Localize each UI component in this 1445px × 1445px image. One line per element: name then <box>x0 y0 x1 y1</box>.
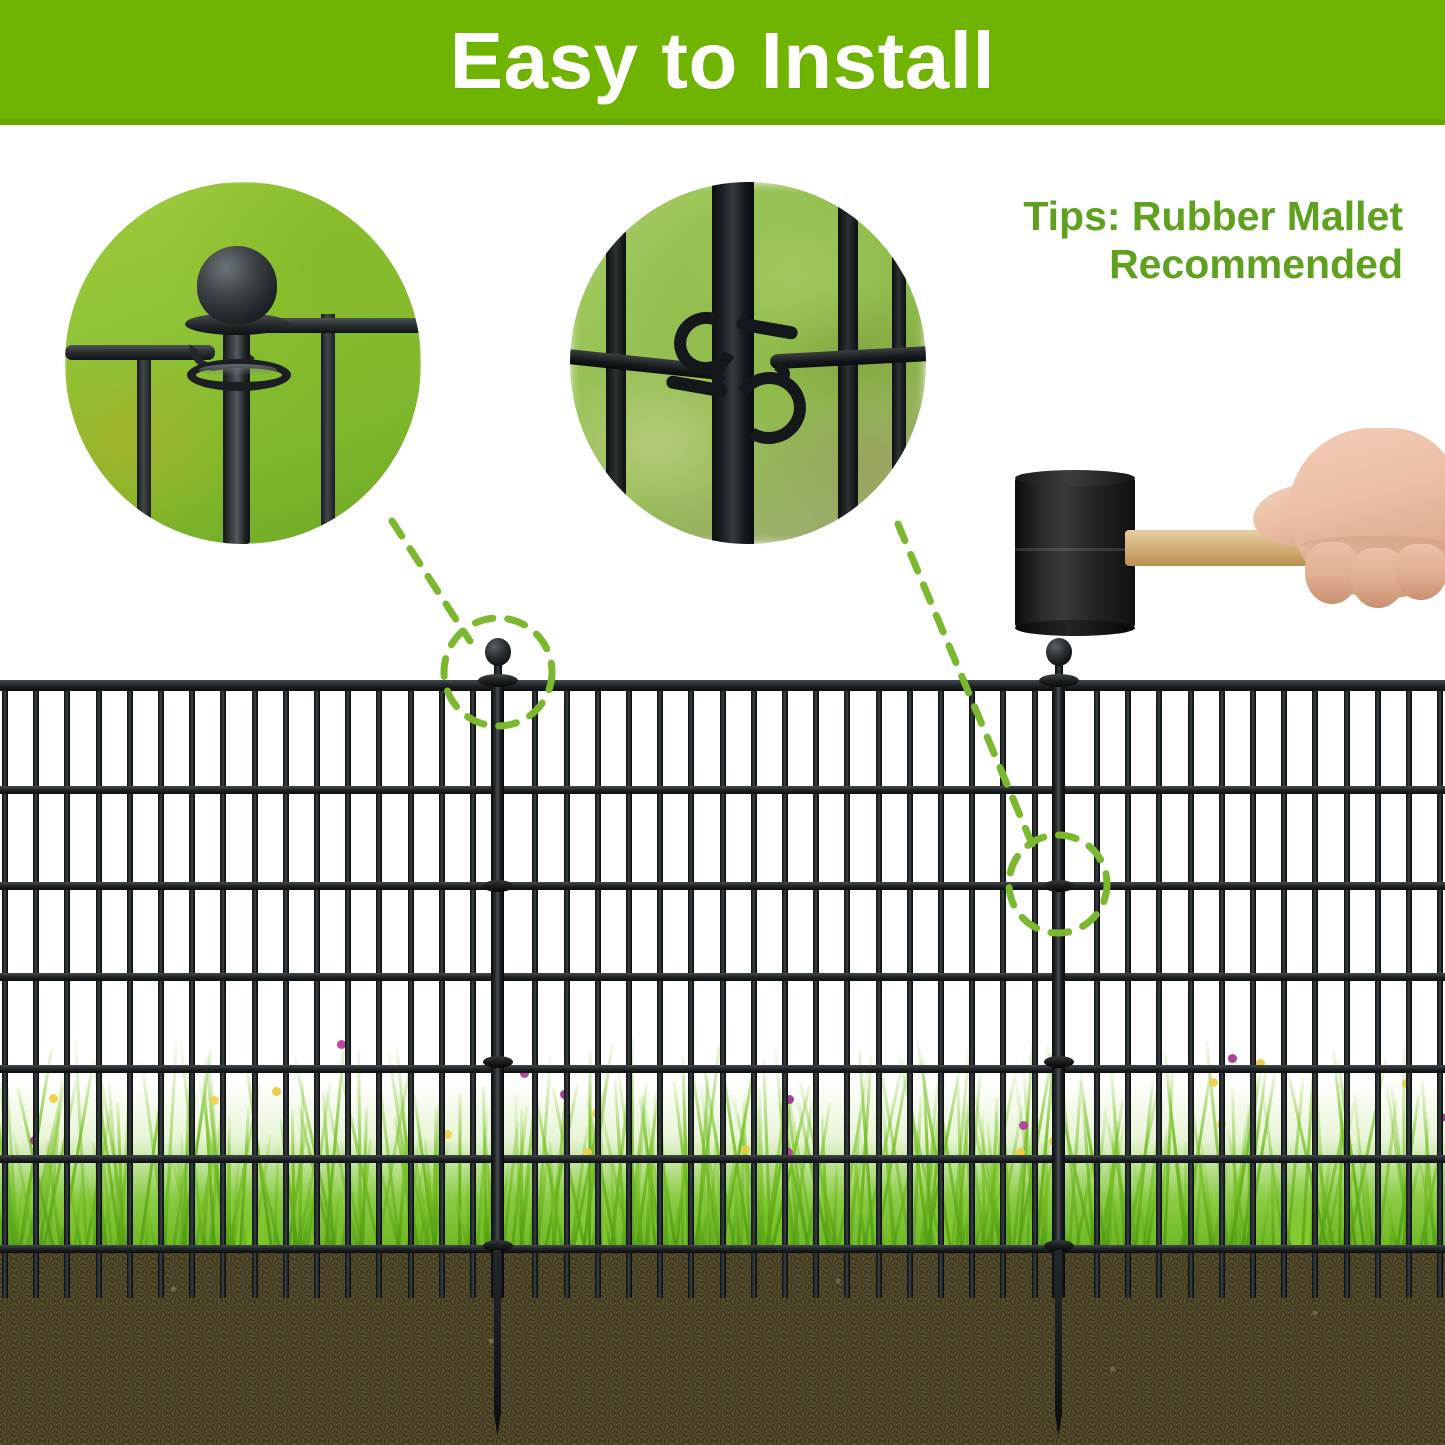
hand-gripping-handle <box>1243 424 1445 614</box>
fence-vertical-bar <box>532 680 538 1298</box>
fence-horizontal-rail <box>0 1065 491 1073</box>
wildflower <box>1019 1121 1028 1130</box>
fence-vertical-bar <box>470 680 476 1298</box>
fence-vertical-bar <box>1375 680 1381 1298</box>
rubber-mallet-with-hand <box>985 430 1445 645</box>
grass-blade <box>1388 1196 1392 1248</box>
fence-vertical-bar <box>751 680 757 1298</box>
fence-vertical-bar <box>1219 680 1225 1298</box>
fence-vertical-bar <box>844 680 850 1298</box>
ground-stake-spike <box>494 1250 501 1436</box>
fence-vertical-bar <box>2 680 8 1298</box>
post-connector-knot <box>1044 1056 1074 1068</box>
post-cap <box>1039 674 1079 687</box>
fence-vertical-bar <box>220 680 226 1298</box>
finger <box>1395 544 1445 600</box>
fence-vertical-bar <box>938 680 944 1298</box>
fence-horizontal-rail <box>1058 786 1445 794</box>
ground-stake-spike <box>1055 1250 1062 1436</box>
post-connector-knot <box>483 1056 513 1068</box>
page-title: Easy to Install <box>450 21 995 101</box>
grass-blade <box>123 1196 126 1248</box>
fence-vertical-bar <box>64 680 70 1298</box>
fence-illustration <box>0 630 1445 1270</box>
fence-vertical-bar <box>1281 680 1287 1298</box>
wildflower <box>741 1145 750 1154</box>
collar-highlight <box>199 364 277 376</box>
wildflower <box>49 1094 58 1103</box>
fence-vertical-bar <box>345 680 351 1298</box>
fence-horizontal-rail <box>497 973 1052 981</box>
fence-horizontal-rail <box>0 1155 491 1163</box>
fence-vertical-bar <box>33 680 39 1298</box>
fence-horizontal-rail <box>497 1155 1052 1163</box>
fence-vertical-bar <box>376 680 382 1298</box>
post-connector-knot <box>483 880 513 892</box>
fence-vertical-bar <box>283 680 289 1298</box>
fence-vertical-bar <box>782 680 788 1298</box>
fence-horizontal-rail <box>497 1065 1052 1073</box>
fence-vertical-bar <box>876 680 882 1298</box>
fence-vertical-bar <box>1000 680 1006 1298</box>
fence-horizontal-rail <box>1058 973 1445 981</box>
fence-horizontal-rail <box>1058 680 1445 691</box>
post-connector-knot <box>1044 880 1074 892</box>
ball-finial-icon <box>1046 638 1072 666</box>
grass-blade <box>552 1184 555 1248</box>
fence-vertical-bar <box>1156 680 1162 1298</box>
fence-horizontal-rail <box>0 973 491 981</box>
callout-circle-post-finial <box>65 182 421 544</box>
wildflower <box>272 1087 281 1096</box>
fence-vertical-bar <box>626 680 632 1298</box>
fence-horizontal-rail <box>497 680 1052 691</box>
fence-post <box>223 300 250 544</box>
grass-blade <box>1420 1078 1435 1248</box>
fence-vertical-bar <box>595 680 601 1298</box>
tips-line-1: Tips: Rubber Mallet <box>933 192 1403 240</box>
fence-vertical-bar <box>189 680 195 1298</box>
fence-vertical-bar <box>1125 680 1131 1298</box>
wildflower <box>1228 1054 1237 1063</box>
fence-vertical-bar <box>439 680 445 1298</box>
post-cap <box>478 674 518 687</box>
fence-horizontal-rail <box>0 680 491 691</box>
tips-line-2: Recommended <box>933 240 1403 288</box>
fence-vertical-bar <box>252 680 258 1298</box>
fence-horizontal-rail <box>1058 1065 1445 1073</box>
fence-vertical-bar <box>1250 680 1256 1298</box>
fence-vertical-bar <box>96 680 102 1298</box>
mallet-head-seam <box>1015 548 1135 551</box>
header-banner: Easy to Install <box>0 0 1445 125</box>
fence-vertical-bar <box>907 680 913 1298</box>
fence-vertical-bar <box>158 680 164 1298</box>
wildflower <box>210 1096 219 1105</box>
fence-horizontal-rail <box>1058 882 1445 890</box>
fence-horizontal-rail <box>0 1245 491 1253</box>
fence-horizontal-rail <box>497 1245 1052 1253</box>
fence-post-right <box>1052 680 1065 1298</box>
fence-horizontal-rail <box>1058 1155 1445 1163</box>
fence-vertical-bar <box>137 352 151 544</box>
fence-horizontal-rail <box>497 786 1052 794</box>
fence-vertical-bar <box>1437 680 1443 1298</box>
fence-vertical-bar <box>564 680 570 1298</box>
fence-vertical-bar <box>969 680 975 1298</box>
tips-text-block: Tips: Rubber Mallet Recommended <box>933 192 1403 289</box>
ball-finial-icon <box>197 246 277 324</box>
fence-vertical-bar <box>720 680 726 1298</box>
fence-horizontal-rail <box>1058 1245 1445 1253</box>
ball-finial-icon <box>485 638 511 666</box>
grass-blade <box>351 1195 355 1248</box>
grass-blade <box>520 1108 523 1248</box>
fence-vertical-bar <box>1344 680 1350 1298</box>
fence-horizontal-rail <box>497 882 1052 890</box>
fence-horizontal-rail <box>0 882 491 890</box>
fence-vertical-bar <box>127 680 133 1298</box>
callout-circle-connector-hook <box>570 182 926 544</box>
fence-vertical-bar <box>892 182 906 544</box>
mallet-head-icon <box>1015 475 1135 630</box>
fence-vertical-bar <box>1406 680 1412 1298</box>
fence-horizontal-rail <box>0 786 491 794</box>
fence-vertical-bar <box>688 680 694 1298</box>
fence-vertical-bar <box>813 680 819 1298</box>
fence-post-left <box>491 680 504 1298</box>
fence-vertical-bar <box>1312 680 1318 1298</box>
fence-vertical-bar <box>657 680 663 1298</box>
fence-vertical-bar <box>314 680 320 1298</box>
fence-vertical-bar <box>408 680 414 1298</box>
fence-vertical-bar <box>1032 680 1038 1298</box>
fence-vertical-bar <box>321 314 335 544</box>
fence-vertical-bar <box>1094 680 1100 1298</box>
wildflower <box>1209 1078 1218 1087</box>
fence-vertical-bar <box>1188 680 1194 1298</box>
